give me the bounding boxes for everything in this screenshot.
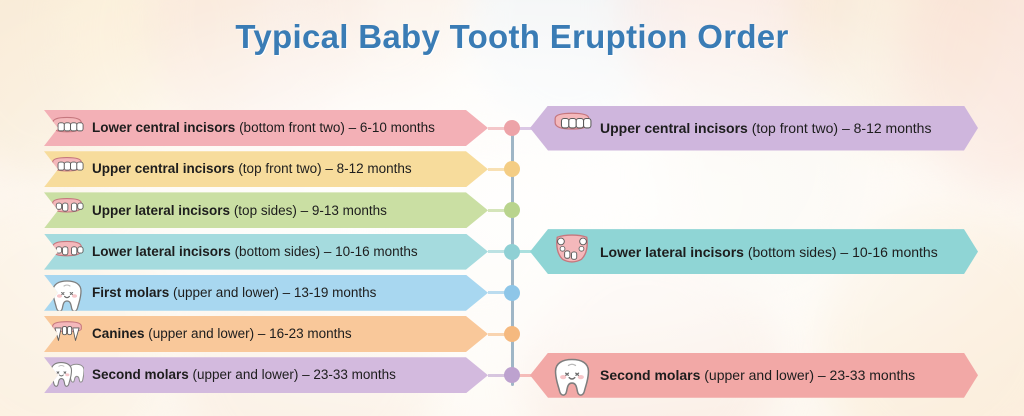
left-row-label-3: Upper lateral incisors (top sides) – 9-1… (92, 204, 387, 218)
right-row-2[interactable]: Lower lateral incisors (bottom sides) – … (530, 229, 988, 274)
right-row-3[interactable]: Second molars (upper and lower) – 23-33 … (530, 353, 988, 398)
left-row-label-2: Upper central incisors (top front two) –… (92, 162, 412, 176)
row-bold-label: Lower central incisors (92, 120, 235, 135)
left-row-3[interactable]: Upper lateral incisors (top sides) – 9-1… (36, 192, 488, 228)
timeline-dot-2[interactable] (504, 161, 520, 177)
row-detail-label: (top front two) – 8-12 months (235, 161, 412, 176)
row-bold-label: Second molars (92, 367, 189, 382)
row-bold-label: Canines (92, 326, 145, 341)
left-row-1[interactable]: Lower central incisors (bottom front two… (36, 110, 488, 146)
row-bold-label: Second molars (600, 367, 700, 383)
left-row-7[interactable]: Second molars (upper and lower) – 23-33 … (36, 357, 488, 393)
page-title: Typical Baby Tooth Eruption Order (0, 18, 1024, 56)
row-bold-label: Upper central incisors (600, 120, 748, 136)
left-row-6[interactable]: Canines (upper and lower) – 16-23 months (36, 316, 488, 352)
lower-jaw-lateral-incisors-icon (552, 233, 592, 271)
timeline-dot-5[interactable] (504, 285, 520, 301)
row-bold-label: Upper lateral incisors (92, 203, 230, 218)
left-row-5[interactable]: First molars (upper and lower) – 13-19 m… (36, 275, 488, 311)
row-detail-label: (top sides) – 9-13 months (230, 203, 387, 218)
row-bold-label: Lower lateral incisors (600, 244, 744, 260)
left-row-2[interactable]: Upper central incisors (top front two) –… (36, 151, 488, 187)
timeline-dot-7[interactable] (504, 367, 520, 383)
left-row-4[interactable]: Lower lateral incisors (bottom sides) – … (36, 234, 488, 270)
row-detail-label: (top front two) – 8-12 months (748, 120, 932, 136)
row-detail-label: (upper and lower) – 13-19 months (169, 285, 376, 300)
right-row-label-1: Upper central incisors (top front two) –… (600, 121, 931, 135)
upper-jaw-central-incisors-icon (552, 109, 592, 147)
right-row-label-2: Lower lateral incisors (bottom sides) – … (600, 245, 938, 259)
right-row-label-3: Second molars (upper and lower) – 23-33 … (600, 368, 915, 382)
timeline-dot-1[interactable] (504, 120, 520, 136)
left-row-label-4: Lower lateral incisors (bottom sides) – … (92, 245, 418, 259)
timeline-dot-6[interactable] (504, 326, 520, 342)
left-row-label-6: Canines (upper and lower) – 16-23 months (92, 327, 352, 341)
row-bold-label: Upper central incisors (92, 161, 235, 176)
row-detail-label: (upper and lower) – 23-33 months (700, 367, 915, 383)
left-row-label-5: First molars (upper and lower) – 13-19 m… (92, 286, 376, 300)
second-molar-tooth-icon (552, 356, 592, 394)
left-row-label-1: Lower central incisors (bottom front two… (92, 121, 435, 135)
left-row-label-7: Second molars (upper and lower) – 23-33 … (92, 368, 396, 382)
row-detail-label: (bottom front two) – 6-10 months (235, 120, 435, 135)
right-row-1[interactable]: Upper central incisors (top front two) –… (530, 106, 988, 151)
row-detail-label: (bottom sides) – 10-16 months (744, 244, 938, 260)
row-bold-label: Lower lateral incisors (92, 244, 231, 259)
row-detail-label: (upper and lower) – 23-33 months (189, 367, 396, 382)
timeline-dot-3[interactable] (504, 202, 520, 218)
row-detail-label: (upper and lower) – 16-23 months (145, 326, 352, 341)
timeline-dot-4[interactable] (504, 244, 520, 260)
row-detail-label: (bottom sides) – 10-16 months (231, 244, 418, 259)
row-bold-label: First molars (92, 285, 169, 300)
